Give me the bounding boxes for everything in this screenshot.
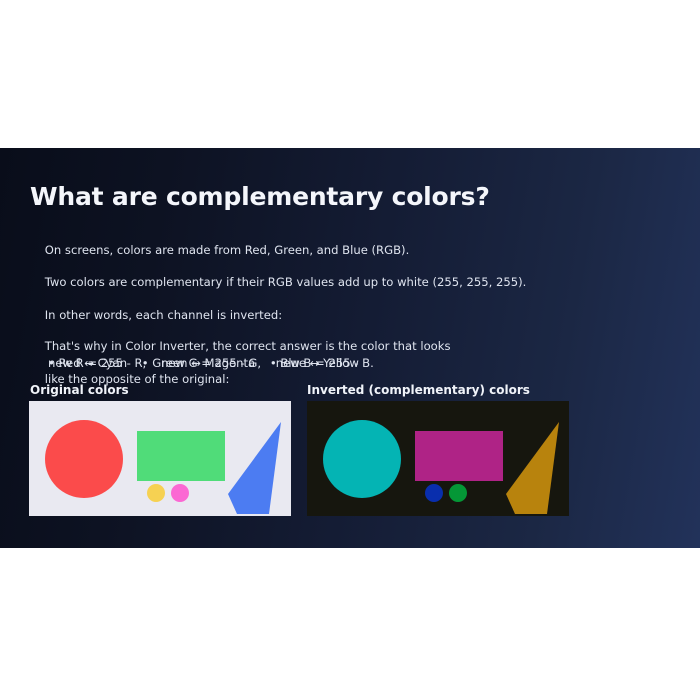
inverted-orange-quad (506, 422, 559, 514)
definition-line-1: Two colors are complementary if their RG… (45, 275, 527, 289)
panel-inverted-colors (307, 401, 569, 516)
definition-line-2: In other words, each channel is inverted… (45, 308, 282, 322)
inverted-magenta-rectangle (415, 431, 503, 481)
inverted-green-dot (449, 484, 467, 502)
panel-original-colors (29, 401, 291, 516)
original-yellow-dot (147, 484, 165, 502)
inverted-cyan-circle (323, 420, 401, 498)
inverted-blue-dot (425, 484, 443, 502)
original-pink-dot (171, 484, 189, 502)
caption-inverted-colors: Inverted (complementary) colors (307, 383, 530, 397)
caption-original-colors: Original colors (30, 383, 129, 397)
why-line-1: That's why in Color Inverter, the correc… (45, 339, 451, 353)
complement-pairs-list: • Red ↔ Cyan • Green ↔ Magenta • Blue ↔ … (48, 355, 359, 371)
slide-root: What are complementary colors? On screen… (0, 0, 700, 700)
page-title: What are complementary colors? (30, 182, 490, 211)
original-red-circle (45, 420, 123, 498)
original-green-rectangle (137, 431, 225, 481)
rgb-line: On screens, colors are made from Red, Gr… (45, 243, 410, 257)
original-blue-quad (228, 422, 281, 514)
